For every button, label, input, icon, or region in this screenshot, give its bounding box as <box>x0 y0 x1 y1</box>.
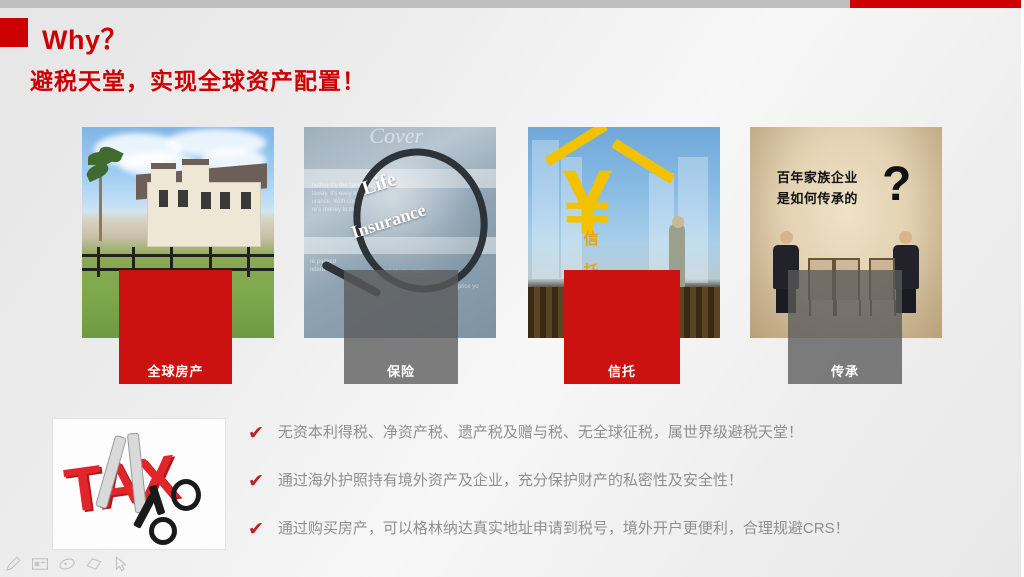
presentation-slide: Why？ 避税天堂，实现全球资产配置！ <box>0 0 1024 577</box>
tax-illustration: TAX <box>52 418 226 550</box>
top-red-bar <box>850 0 1024 8</box>
title-accent-square <box>0 18 28 47</box>
pen-icon[interactable] <box>4 555 22 573</box>
bullet-item-1: ✔ 无资本利得税、净资产税、遗产税及赠与税、无全球征税，属世界级避税天堂！ <box>248 424 803 443</box>
photo-text-cover: Cover <box>369 127 423 149</box>
check-icon: ✔ <box>248 472 264 491</box>
card-label-trust: 信托 <box>608 361 636 384</box>
bullet-item-3: ✔ 通过购买房产，可以格林纳达真实地址申请到税号，境外开户更便利，合理规避CRS… <box>248 520 850 539</box>
top-gray-bar <box>0 0 850 8</box>
photo-question-mark: ? <box>882 161 911 209</box>
annotation-toolbar[interactable] <box>4 555 130 573</box>
slide-panel-icon[interactable] <box>31 555 49 573</box>
bullet-text-2: 通过海外护照持有境外资产及企业，充分保护财产的私密性及安全性！ <box>278 472 743 490</box>
bullet-text-3: 通过购买房产，可以格林纳达真实地址申请到税号，境外开户更便利，合理规避CRS！ <box>278 520 850 538</box>
card-insurance[interactable]: Cover hether it's the family taway, it's… <box>304 127 496 338</box>
card-label-global-property: 全球房产 <box>147 361 203 384</box>
bullet-item-2: ✔ 通过海外护照持有境外资产及企业，充分保护财产的私密性及安全性！ <box>248 472 743 491</box>
card-inheritance[interactable]: 百年家族企业 是如何传承的 ? 传承 <box>750 127 942 338</box>
card-label-overlay-insurance: 保险 <box>344 270 458 384</box>
pointer-icon[interactable] <box>112 555 130 573</box>
page-subtitle: 避税天堂，实现全球资产配置！ <box>30 62 366 96</box>
check-icon: ✔ <box>248 424 264 443</box>
card-label-inheritance: 传承 <box>831 361 859 384</box>
highlighter-icon[interactable] <box>58 555 76 573</box>
card-label-overlay-global-property: 全球房产 <box>119 270 232 384</box>
scissors-handle-2 <box>171 479 201 511</box>
photo-headline-line2: 是如何传承的 <box>777 190 858 207</box>
page-title: Why？ <box>42 18 128 57</box>
photo-char-xin: 信 <box>584 228 599 249</box>
photo-headline-line1: 百年家族企业 <box>777 169 858 186</box>
card-trust[interactable]: ¥ 信 托 信托 <box>528 127 720 338</box>
card-label-overlay-trust: 信托 <box>564 270 680 384</box>
card-label-insurance: 保险 <box>387 361 415 384</box>
card-global-property[interactable]: 全球房产 <box>82 127 274 338</box>
scissors-handle-1 <box>149 517 177 545</box>
eraser-icon[interactable] <box>85 555 103 573</box>
bullet-text-1: 无资本利得税、净资产税、遗产税及赠与税、无全球征税，属世界级避税天堂！ <box>278 424 803 442</box>
card-label-overlay-inheritance: 传承 <box>788 270 902 384</box>
check-icon: ✔ <box>248 520 264 539</box>
photo-text-right: price yo <box>458 283 479 291</box>
